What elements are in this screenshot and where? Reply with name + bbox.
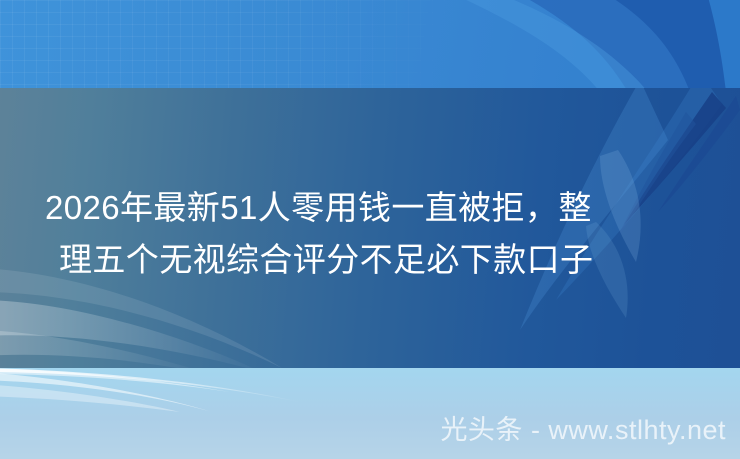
title-line-1: 2026年最新51人零用钱一直被拒，整 xyxy=(45,182,705,234)
top-blue-grid-band xyxy=(0,0,740,88)
title-line-2: 理五个无视综合评分不足必下款口子 xyxy=(45,234,705,286)
page-title: 2026年最新51人零用钱一直被拒，整 理五个无视综合评分不足必下款口子 xyxy=(45,182,705,286)
grid-pattern-overlay xyxy=(0,0,740,88)
site-watermark: 光头条 - www.stlhty.net xyxy=(440,414,726,446)
poster-canvas: 2026年最新51人零用钱一直被拒，整 理五个无视综合评分不足必下款口子 光头条… xyxy=(0,0,740,459)
